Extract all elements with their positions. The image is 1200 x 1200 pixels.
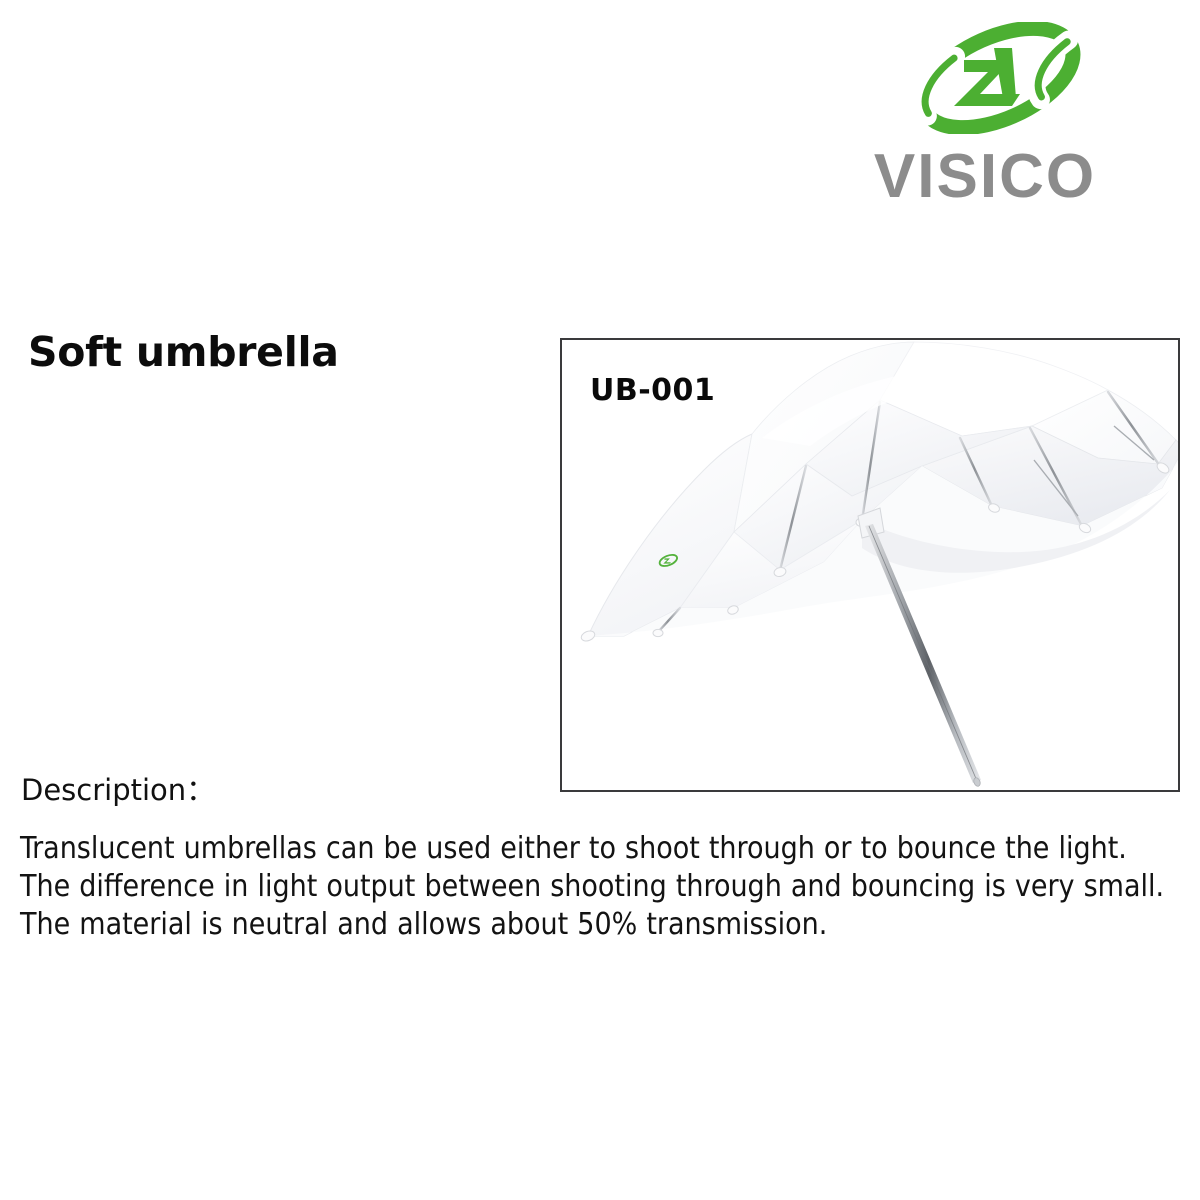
- product-code-label: UB-001: [590, 374, 715, 408]
- brand-wordmark: VISICO: [840, 146, 1130, 208]
- product-spec-page: VISICO Soft umbrella UB-001: [0, 0, 1200, 1200]
- page-title: Soft umbrella: [28, 327, 339, 377]
- brand-logo: VISICO: [840, 22, 1140, 202]
- description-label: Description：: [21, 772, 215, 808]
- visico-ellipse-z-logo-icon: [908, 22, 1088, 134]
- description-text: Translucent umbrellas can be used either…: [20, 830, 1175, 944]
- product-image-frame: UB-001: [560, 338, 1180, 792]
